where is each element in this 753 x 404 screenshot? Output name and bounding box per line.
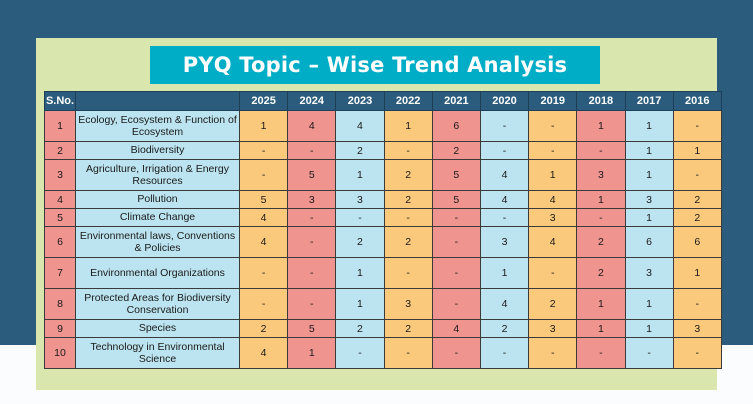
row-topic-name: Biodiversity xyxy=(76,142,240,160)
cell-2021: - xyxy=(432,209,480,227)
cell-2021: 5 xyxy=(432,160,480,191)
cell-2018: - xyxy=(577,209,625,227)
cell-2022: - xyxy=(384,209,432,227)
cell-2024: 3 xyxy=(288,191,336,209)
cell-2018: 2 xyxy=(577,227,625,258)
row-serial-number: 7 xyxy=(45,258,76,289)
cell-2022: 2 xyxy=(384,320,432,338)
row-topic-name: Environmental laws, Conventions & Polici… xyxy=(76,227,240,258)
page-title: PYQ Topic – Wise Trend Analysis xyxy=(183,53,568,77)
cell-2018: - xyxy=(577,142,625,160)
table-header: S.No. 2025 2024 2023 2022 2021 2020 2019… xyxy=(45,92,722,111)
table-row: 5Climate Change4-----3-12 xyxy=(45,209,722,227)
cell-2023: 1 xyxy=(336,258,384,289)
cell-2024: 5 xyxy=(288,320,336,338)
cell-2025: - xyxy=(240,258,288,289)
cell-2016: - xyxy=(673,338,721,369)
cell-2023: 1 xyxy=(336,289,384,320)
row-serial-number: 8 xyxy=(45,289,76,320)
table-header-row: S.No. 2025 2024 2023 2022 2021 2020 2019… xyxy=(45,92,722,111)
column-header-2016: 2016 xyxy=(673,92,721,111)
cell-2017: 1 xyxy=(625,320,673,338)
cell-2019: 2 xyxy=(529,289,577,320)
cell-2020: 4 xyxy=(480,160,528,191)
cell-2020: 4 xyxy=(480,191,528,209)
cell-2020: - xyxy=(480,142,528,160)
cell-2017: 1 xyxy=(625,160,673,191)
row-topic-name: Agriculture, Irrigation & Energy Resourc… xyxy=(76,160,240,191)
cell-2024: - xyxy=(288,209,336,227)
title-banner: PYQ Topic – Wise Trend Analysis xyxy=(150,46,600,84)
cell-2020: - xyxy=(480,111,528,142)
cell-2020: - xyxy=(480,338,528,369)
cell-2016: 1 xyxy=(673,142,721,160)
column-header-2021: 2021 xyxy=(432,92,480,111)
cell-2022: 3 xyxy=(384,289,432,320)
table-row: 8Protected Areas for Biodiversity Conser… xyxy=(45,289,722,320)
table-row: 1Ecology, Ecosystem & Function of Ecosys… xyxy=(45,111,722,142)
cell-2019: 3 xyxy=(529,209,577,227)
column-header-2018: 2018 xyxy=(577,92,625,111)
table-row: 4Pollution5332544132 xyxy=(45,191,722,209)
row-topic-name: Pollution xyxy=(76,191,240,209)
cell-2017: 1 xyxy=(625,209,673,227)
cell-2023: 2 xyxy=(336,320,384,338)
row-serial-number: 2 xyxy=(45,142,76,160)
row-topic-name: Climate Change xyxy=(76,209,240,227)
cell-2016: 6 xyxy=(673,227,721,258)
cell-2020: - xyxy=(480,209,528,227)
cell-2025: - xyxy=(240,160,288,191)
row-serial-number: 3 xyxy=(45,160,76,191)
cell-2022: 1 xyxy=(384,111,432,142)
table-row: 10Technology in Environmental Science41-… xyxy=(45,338,722,369)
column-header-2023: 2023 xyxy=(336,92,384,111)
cell-2022: - xyxy=(384,142,432,160)
cell-2019: 4 xyxy=(529,227,577,258)
cell-2025: 5 xyxy=(240,191,288,209)
cell-2021: 6 xyxy=(432,111,480,142)
cell-2019: - xyxy=(529,338,577,369)
cell-2021: 5 xyxy=(432,191,480,209)
cell-2017: 1 xyxy=(625,289,673,320)
table-row: 9Species2522423113 xyxy=(45,320,722,338)
cell-2021: - xyxy=(432,258,480,289)
cell-2017: 3 xyxy=(625,191,673,209)
cell-2023: 2 xyxy=(336,142,384,160)
row-serial-number: 4 xyxy=(45,191,76,209)
row-topic-name: Technology in Environmental Science xyxy=(76,338,240,369)
row-serial-number: 10 xyxy=(45,338,76,369)
cell-2016: 2 xyxy=(673,191,721,209)
row-topic-name: Protected Areas for Biodiversity Conserv… xyxy=(76,289,240,320)
cell-2020: 2 xyxy=(480,320,528,338)
trend-analysis-table: S.No. 2025 2024 2023 2022 2021 2020 2019… xyxy=(44,91,722,369)
cell-2023: 1 xyxy=(336,160,384,191)
cell-2024: - xyxy=(288,258,336,289)
cell-2021: - xyxy=(432,338,480,369)
cell-2016: 2 xyxy=(673,209,721,227)
cell-2019: 4 xyxy=(529,191,577,209)
table-row: 3Agriculture, Irrigation & Energy Resour… xyxy=(45,160,722,191)
cell-2021: 4 xyxy=(432,320,480,338)
row-serial-number: 9 xyxy=(45,320,76,338)
column-header-2019: 2019 xyxy=(529,92,577,111)
row-topic-name: Ecology, Ecosystem & Function of Ecosyst… xyxy=(76,111,240,142)
cell-2024: - xyxy=(288,289,336,320)
column-header-topic xyxy=(76,92,240,111)
table-row: 7Environmental Organizations--1--1-231 xyxy=(45,258,722,289)
cell-2019: - xyxy=(529,258,577,289)
cell-2024: - xyxy=(288,142,336,160)
row-topic-name: Species xyxy=(76,320,240,338)
row-serial-number: 6 xyxy=(45,227,76,258)
cell-2016: - xyxy=(673,160,721,191)
cell-2022: - xyxy=(384,258,432,289)
column-header-2017: 2017 xyxy=(625,92,673,111)
cell-2025: - xyxy=(240,142,288,160)
cell-2018: 1 xyxy=(577,111,625,142)
cell-2019: - xyxy=(529,111,577,142)
cell-2024: 5 xyxy=(288,160,336,191)
column-header-sno: S.No. xyxy=(45,92,76,111)
cell-2025: 4 xyxy=(240,227,288,258)
cell-2019: 3 xyxy=(529,320,577,338)
cell-2024: 1 xyxy=(288,338,336,369)
cell-2016: - xyxy=(673,111,721,142)
cell-2016: 3 xyxy=(673,320,721,338)
cell-2018: 1 xyxy=(577,191,625,209)
cell-2018: 3 xyxy=(577,160,625,191)
table-body: 1Ecology, Ecosystem & Function of Ecosys… xyxy=(45,111,722,369)
cell-2025: - xyxy=(240,289,288,320)
cell-2022: - xyxy=(384,338,432,369)
cell-2024: 4 xyxy=(288,111,336,142)
cell-2018: 1 xyxy=(577,289,625,320)
row-topic-name: Environmental Organizations xyxy=(76,258,240,289)
cell-2017: 6 xyxy=(625,227,673,258)
cell-2025: 2 xyxy=(240,320,288,338)
cell-2017: 3 xyxy=(625,258,673,289)
cell-2023: 2 xyxy=(336,227,384,258)
cell-2018: - xyxy=(577,338,625,369)
column-header-2020: 2020 xyxy=(480,92,528,111)
cell-2023: 4 xyxy=(336,111,384,142)
column-header-2025: 2025 xyxy=(240,92,288,111)
row-serial-number: 1 xyxy=(45,111,76,142)
cell-2023: - xyxy=(336,209,384,227)
column-header-2024: 2024 xyxy=(288,92,336,111)
cell-2023: - xyxy=(336,338,384,369)
cell-2021: 2 xyxy=(432,142,480,160)
cell-2017: 1 xyxy=(625,142,673,160)
cell-2024: - xyxy=(288,227,336,258)
cell-2020: 4 xyxy=(480,289,528,320)
cell-2022: 2 xyxy=(384,227,432,258)
cell-2025: 1 xyxy=(240,111,288,142)
row-serial-number: 5 xyxy=(45,209,76,227)
cell-2023: 3 xyxy=(336,191,384,209)
column-header-2022: 2022 xyxy=(384,92,432,111)
cell-2016: 1 xyxy=(673,258,721,289)
cell-2017: 1 xyxy=(625,111,673,142)
cell-2020: 1 xyxy=(480,258,528,289)
cell-2019: 1 xyxy=(529,160,577,191)
cell-2021: - xyxy=(432,289,480,320)
cell-2021: - xyxy=(432,227,480,258)
cell-2025: 4 xyxy=(240,209,288,227)
cell-2019: - xyxy=(529,142,577,160)
cell-2022: 2 xyxy=(384,160,432,191)
table-row: 6Environmental laws, Conventions & Polic… xyxy=(45,227,722,258)
cell-2017: - xyxy=(625,338,673,369)
cell-2025: 4 xyxy=(240,338,288,369)
cell-2018: 2 xyxy=(577,258,625,289)
cell-2016: - xyxy=(673,289,721,320)
cell-2020: 3 xyxy=(480,227,528,258)
cell-2018: 1 xyxy=(577,320,625,338)
cell-2022: 2 xyxy=(384,191,432,209)
table-row: 2Biodiversity--2-2---11 xyxy=(45,142,722,160)
